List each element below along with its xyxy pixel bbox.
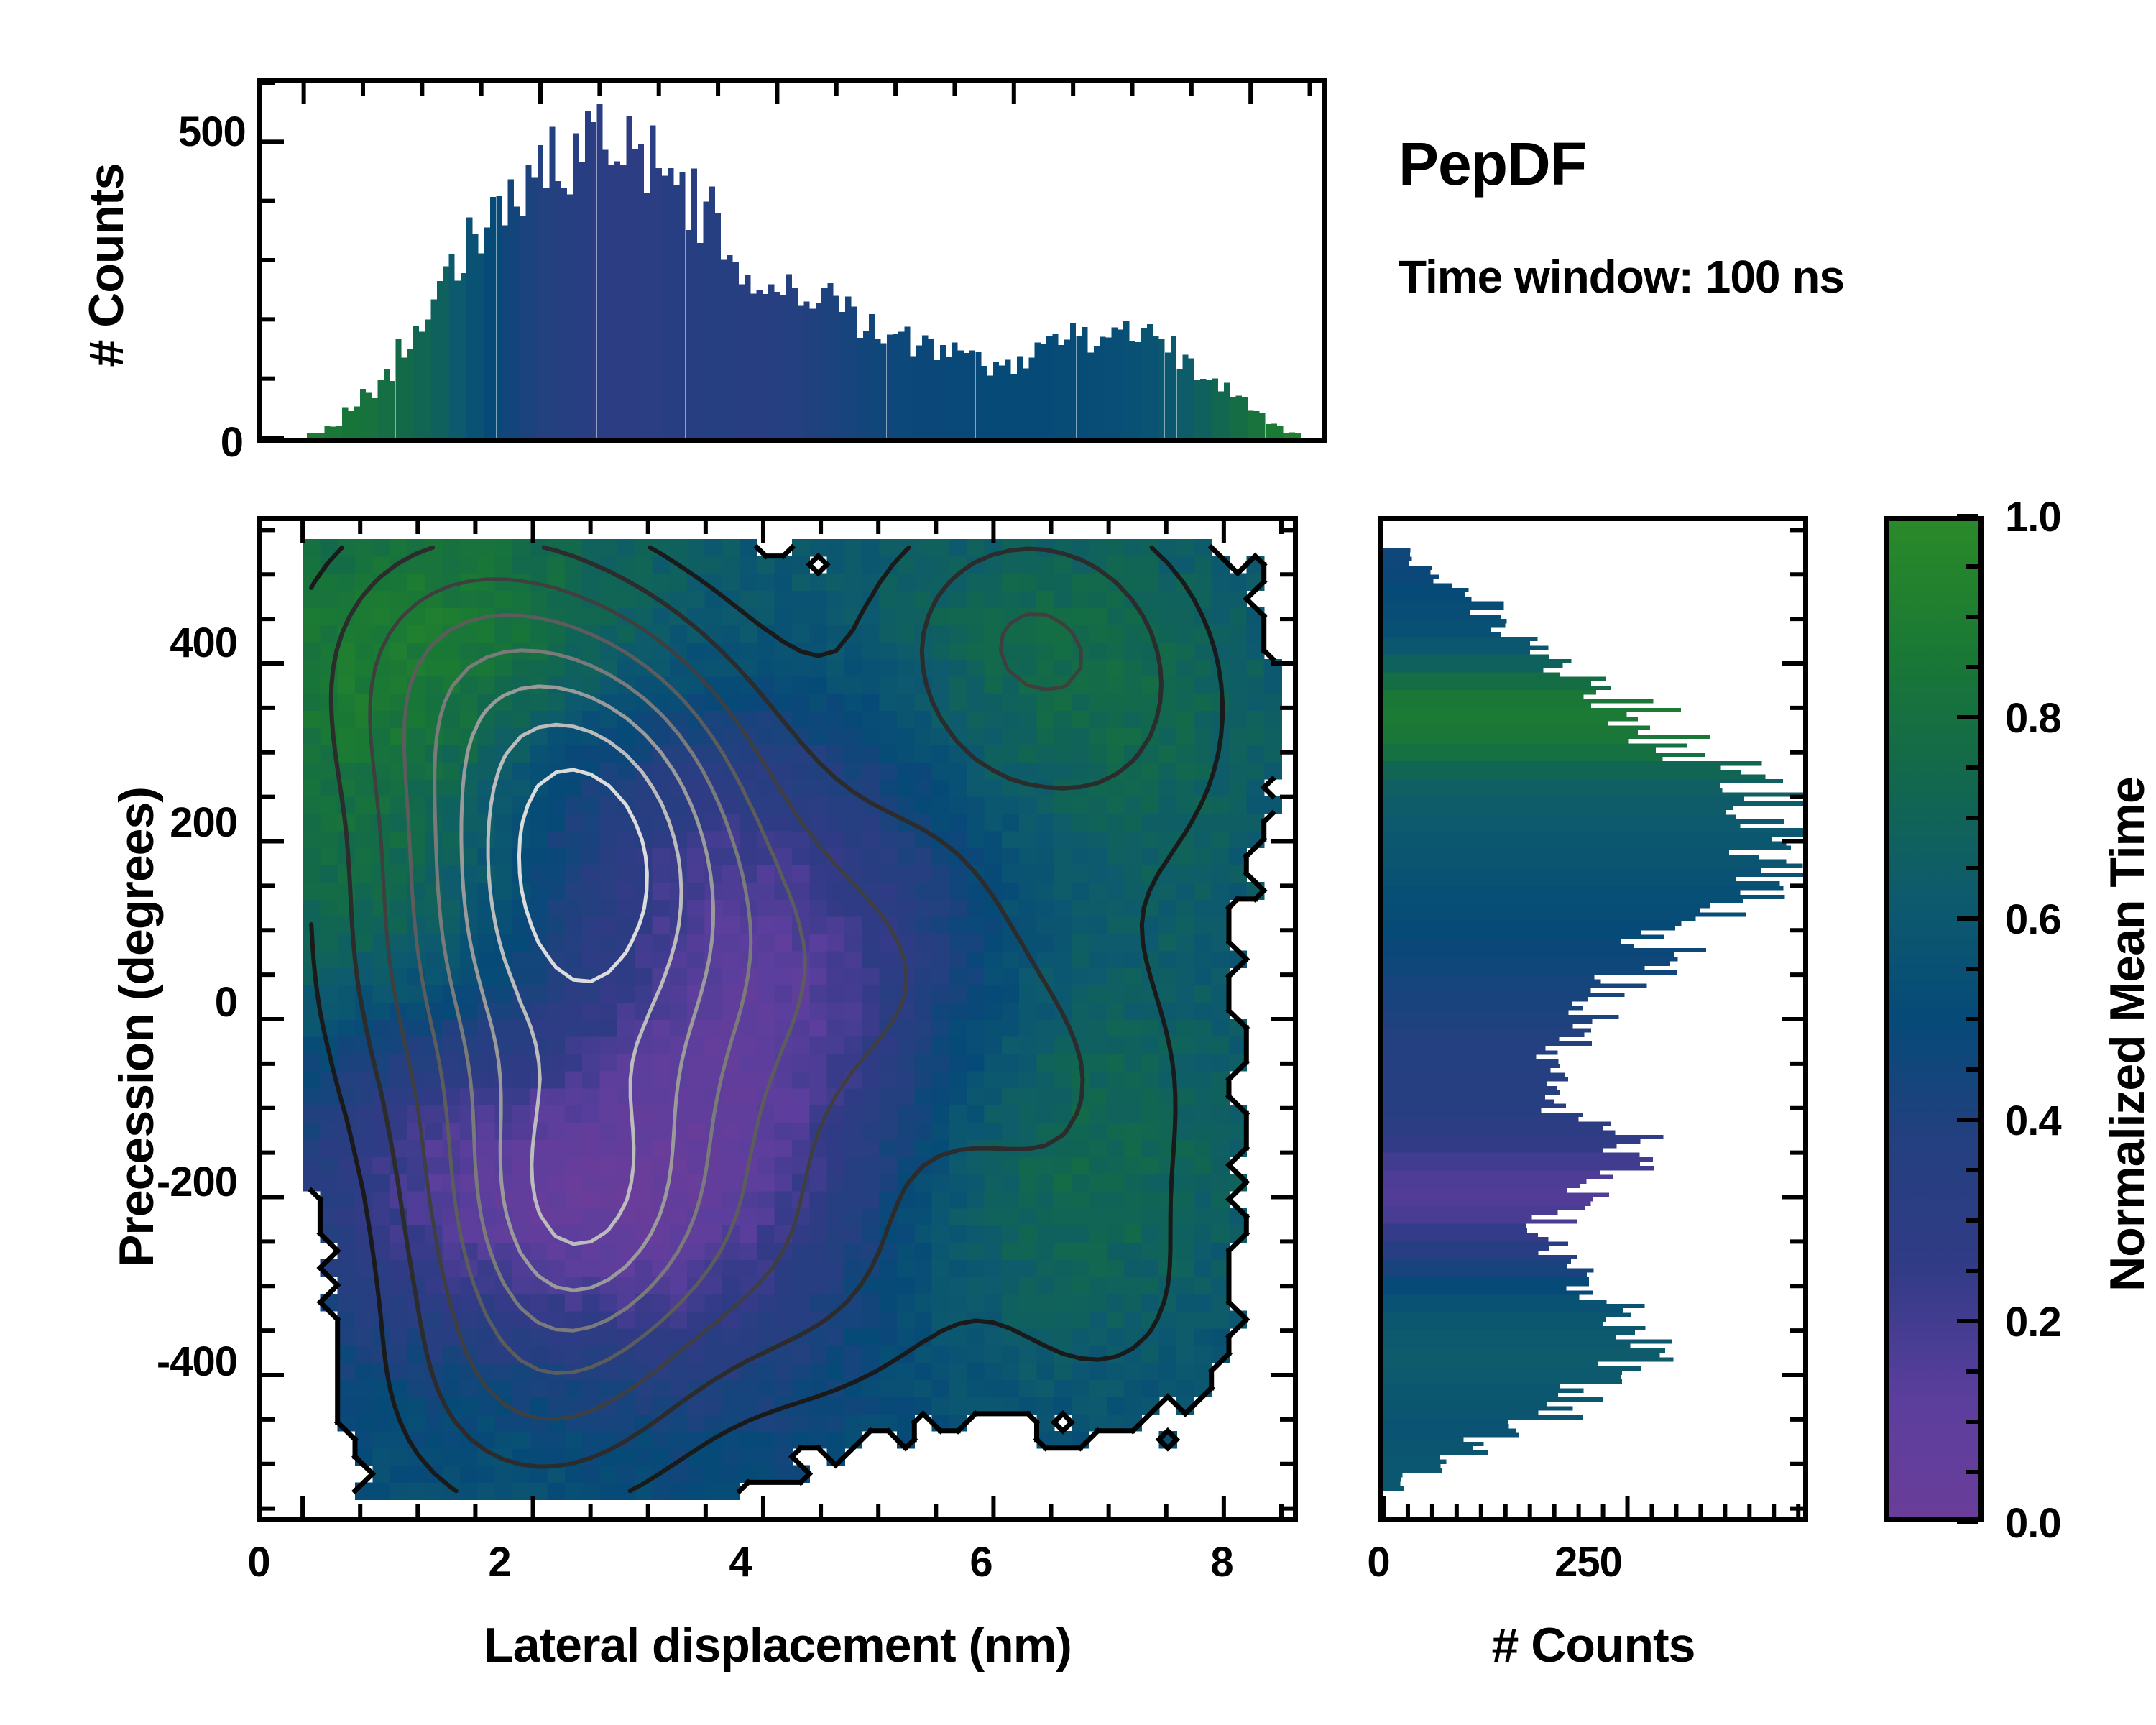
right-hist-xlabel: # Counts <box>1378 1617 1808 1673</box>
colorbar-minor-tick <box>1966 765 1978 770</box>
colorbar-minor-tick <box>1966 1168 1978 1172</box>
colorbar-minor-tick <box>1966 615 1978 619</box>
colorbar-minor-tick <box>1966 564 1978 569</box>
top-histogram-frame <box>257 78 1327 443</box>
colorbar-tick-0-0: 0.0 <box>2005 1499 2149 1547</box>
top-hist-ylabel: # Counts <box>78 114 134 416</box>
right-histogram-plot <box>1383 521 1803 1517</box>
colorbar-minor-tick <box>1966 1470 1978 1474</box>
top-histogram-panel <box>257 78 1327 443</box>
top-hist-ytick-500: 500 <box>178 108 243 156</box>
main-xtick-0: 0 <box>237 1538 280 1586</box>
main-heatmap-frame <box>257 516 1298 1522</box>
colorbar-major-tick <box>1957 1319 1978 1323</box>
main-ylabel: Precession (degrees) <box>109 704 165 1351</box>
colorbar-major-tick <box>1957 1520 1978 1524</box>
main-xtick-8: 8 <box>1200 1538 1243 1586</box>
colorbar-major-tick <box>1957 715 1978 719</box>
colorbar-minor-tick <box>1966 1017 1978 1021</box>
colorbar-tick-1-0: 1.0 <box>2005 493 2149 541</box>
right-histogram-frame <box>1378 516 1808 1522</box>
right-hist-xtick-0: 0 <box>1357 1538 1400 1586</box>
main-xtick-2: 2 <box>478 1538 521 1586</box>
colorbar-label: Normalized Mean Time <box>2099 711 2155 1358</box>
colorbar-major-tick <box>1957 514 1978 518</box>
colorbar-minor-tick <box>1966 1269 1978 1273</box>
colorbar-minor-tick <box>1966 1369 1978 1374</box>
colorbar-minor-tick <box>1966 816 1978 820</box>
colorbar-minor-tick <box>1966 665 1978 669</box>
colorbar-minor-tick <box>1966 866 1978 870</box>
colorbar-major-tick <box>1957 1118 1978 1122</box>
main-xtick-6: 6 <box>959 1538 1003 1586</box>
main-xtick-4: 4 <box>719 1538 762 1586</box>
colorbar-minor-tick <box>1966 1218 1978 1223</box>
colorbar-minor-tick <box>1966 1067 1978 1072</box>
right-hist-xtick-250: 250 <box>1531 1538 1646 1586</box>
colorbar-ticks <box>1884 516 2100 1522</box>
top-hist-ytick-0: 0 <box>178 418 243 466</box>
main-heatmap-plot <box>262 521 1293 1517</box>
colorbar-major-tick <box>1957 916 1978 921</box>
main-heatmap-panel <box>257 516 1298 1522</box>
top-histogram-plot <box>262 83 1322 438</box>
main-xlabel: Lateral displacement (nm) <box>257 1617 1298 1673</box>
main-ytick-400: 400 <box>108 619 237 667</box>
right-histogram-panel <box>1378 516 1808 1522</box>
colorbar-minor-tick <box>1966 967 1978 971</box>
figure-subtitle: Time window: 100 ns <box>1399 250 1844 303</box>
figure-title: PepDF <box>1399 129 1586 199</box>
colorbar-minor-tick <box>1966 1420 1978 1424</box>
